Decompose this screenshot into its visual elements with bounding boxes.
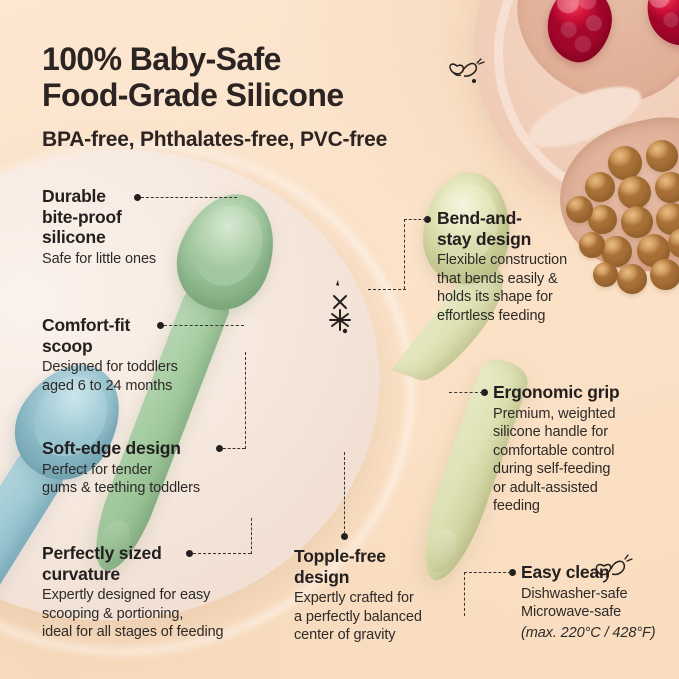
callout-easy-clean-temperature: (max. 220°C / 428°F)	[521, 624, 679, 643]
callout-topple-free-description: Expertly crafted for a perfectly balance…	[294, 589, 459, 645]
callout-soft-edge: Soft-edge design Perfect for tender gums…	[42, 438, 257, 498]
callout-durable-dot	[134, 194, 141, 201]
callout-comfort-fit-title: Comfort-fit scoop	[42, 315, 252, 356]
callout-comfort-fit: Comfort-fit scoop Designed for toddlers …	[42, 315, 252, 395]
callout-durable-leader	[141, 197, 237, 198]
callout-easy-clean-leader-v	[464, 572, 465, 616]
infographic-canvas: 100% Baby-Safe Food-Grade Silicone BPA-f…	[0, 0, 679, 679]
callout-topple-free: Topple-free design Expertly crafted for …	[294, 546, 459, 645]
callout-durable-description: Safe for little ones	[42, 250, 232, 269]
title-line-2: Food-Grade Silicone	[42, 78, 512, 114]
callout-topple-free-leader-v	[344, 452, 345, 534]
callout-bend-and-stay-leader-v	[404, 219, 405, 289]
butterfly-doodle-icon	[443, 52, 491, 92]
callout-topple-free-title: Topple-free design	[294, 546, 459, 587]
callout-soft-edge-dot	[216, 445, 223, 452]
callout-topple-free-dot	[341, 533, 348, 540]
callout-soft-edge-leader-h	[223, 448, 245, 449]
callout-ergonomic-grip-leader	[449, 392, 483, 393]
callout-perfectly-sized-title: Perfectly sized curvature	[42, 543, 292, 584]
callout-easy-clean-leader-h	[464, 572, 511, 573]
page-title: 100% Baby-Safe Food-Grade Silicone	[42, 42, 512, 114]
callout-ergonomic-grip-description: Premium, weighted silicone handle for co…	[493, 405, 663, 516]
callout-comfort-fit-description: Designed for toddlers aged 6 to 24 month…	[42, 358, 252, 395]
callout-bend-and-stay: Bend-and- stay design Flexible construct…	[437, 208, 612, 325]
callout-ergonomic-grip-title: Ergonomic grip	[493, 382, 663, 403]
callout-perfectly-sized: Perfectly sized curvature Expertly desig…	[42, 543, 292, 642]
sparkle-doodle-icon	[316, 272, 362, 334]
callout-perfectly-sized-dot	[186, 550, 193, 557]
page-subtitle: BPA-free, Phthalates-free, PVC-free	[42, 128, 387, 152]
butterfly-doodle-icon	[592, 554, 636, 588]
callout-ergonomic-grip: Ergonomic grip Premium, weighted silicon…	[493, 382, 663, 516]
callout-bend-and-stay-title: Bend-and- stay design	[437, 208, 612, 249]
callout-bend-and-stay-leader-h1	[404, 219, 426, 220]
callout-comfort-fit-dot	[157, 322, 164, 329]
callout-perfectly-sized-leader-v	[251, 518, 252, 554]
callout-comfort-fit-leader	[164, 325, 244, 326]
title-line-1: 100% Baby-Safe	[42, 41, 281, 77]
callout-perfectly-sized-description: Expertly designed for easy scooping & po…	[42, 586, 292, 642]
callout-easy-clean-description: Dishwasher-safe Microwave-safe	[521, 585, 679, 622]
callout-perfectly-sized-leader-h	[193, 553, 251, 554]
callout-bend-and-stay-description: Flexible construction that bends easily …	[437, 251, 612, 325]
callout-soft-edge-description: Perfect for tender gums & teething toddl…	[42, 461, 257, 498]
callout-bend-and-stay-leader-h2	[368, 289, 406, 290]
callout-soft-edge-leader-v	[245, 352, 246, 449]
